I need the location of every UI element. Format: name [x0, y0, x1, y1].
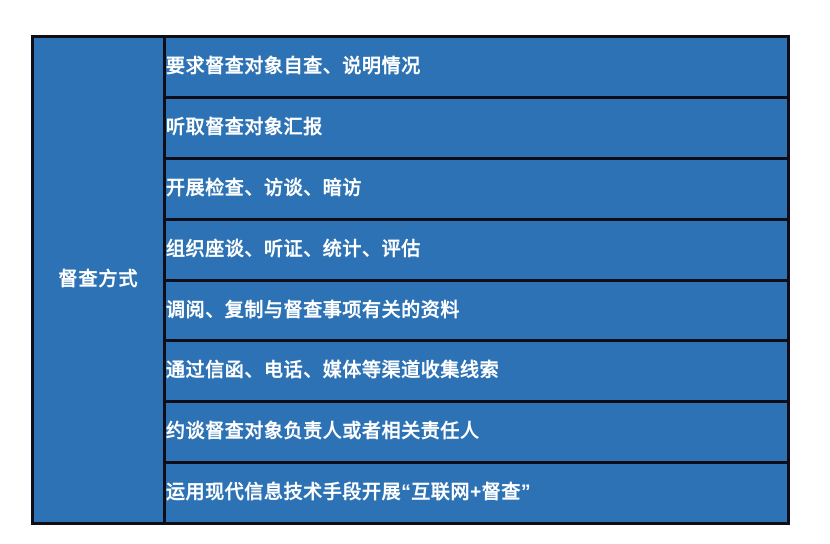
supervision-methods-table: 督查方式 要求督查对象自查、说明情况 听取督查对象汇报 开展检查、访谈、暗访 组… — [31, 35, 790, 525]
table-row: 督查方式 要求督查对象自查、说明情况 — [33, 37, 789, 98]
list-item: 听取督查对象汇报 — [165, 97, 789, 158]
list-item: 要求督查对象自查、说明情况 — [165, 37, 789, 98]
list-item: 通过信函、电话、媒体等渠道收集线索 — [165, 341, 789, 402]
list-item: 开展检查、访谈、暗访 — [165, 158, 789, 219]
list-item: 运用现代信息技术手段开展“互联网+督查” — [165, 463, 789, 524]
list-item: 约谈督查对象负责人或者相关责任人 — [165, 402, 789, 463]
row-header-supervision-methods: 督查方式 — [33, 37, 165, 524]
supervision-methods-table-container: 督查方式 要求督查对象自查、说明情况 听取督查对象汇报 开展检查、访谈、暗访 组… — [31, 35, 790, 498]
list-item: 组织座谈、听证、统计、评估 — [165, 219, 789, 280]
table-body: 督查方式 要求督查对象自查、说明情况 听取督查对象汇报 开展检查、访谈、暗访 组… — [33, 37, 789, 524]
list-item: 调阅、复制与督查事项有关的资料 — [165, 280, 789, 341]
